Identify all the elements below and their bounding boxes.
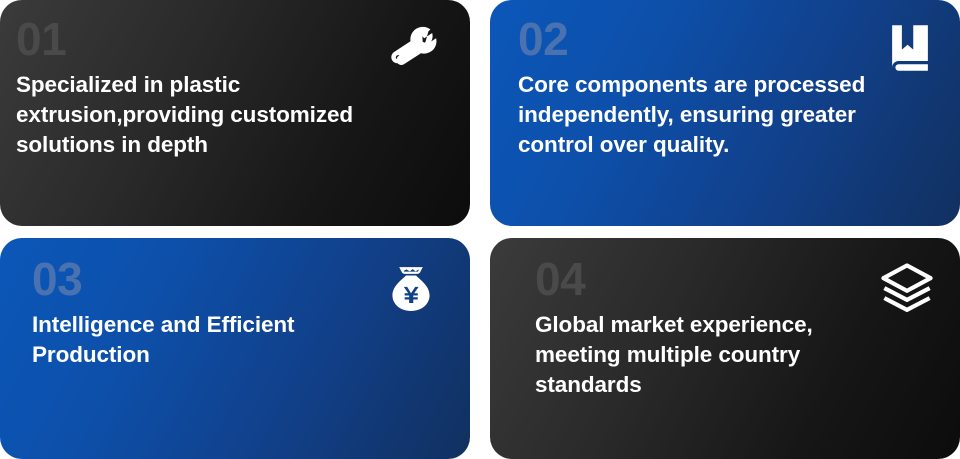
card-number-02: 02 [518,16,940,62]
card-content-02: 02 Core components are processed indepen… [490,0,960,226]
card-content-03: 03 Intelligence and Efficient Production [0,238,470,459]
card-description-01: Specialized in plastic extrusion,providi… [16,70,436,160]
feature-card-01[interactable]: 01 Specialized in plastic extrusion,prov… [0,0,470,226]
card-description-04: Global market experience, meeting multip… [535,310,915,400]
feature-card-grid: 01 Specialized in plastic extrusion,prov… [0,0,960,459]
card-description-03: Intelligence and Efficient Production [32,310,432,370]
card-description-02: Core components are processed independen… [518,70,940,160]
card-content-01: 01 Specialized in plastic extrusion,prov… [0,0,470,226]
feature-card-04[interactable]: 04 Global market experience, meeting mul… [490,238,960,459]
card-content-04: 04 Global market experience, meeting mul… [490,238,960,459]
feature-card-02[interactable]: 02 Core components are processed indepen… [490,0,960,226]
card-number-04: 04 [535,256,940,302]
card-number-03: 03 [32,256,450,302]
card-number-01: 01 [16,16,450,62]
feature-card-03[interactable]: 03 Intelligence and Efficient Production [0,238,470,459]
